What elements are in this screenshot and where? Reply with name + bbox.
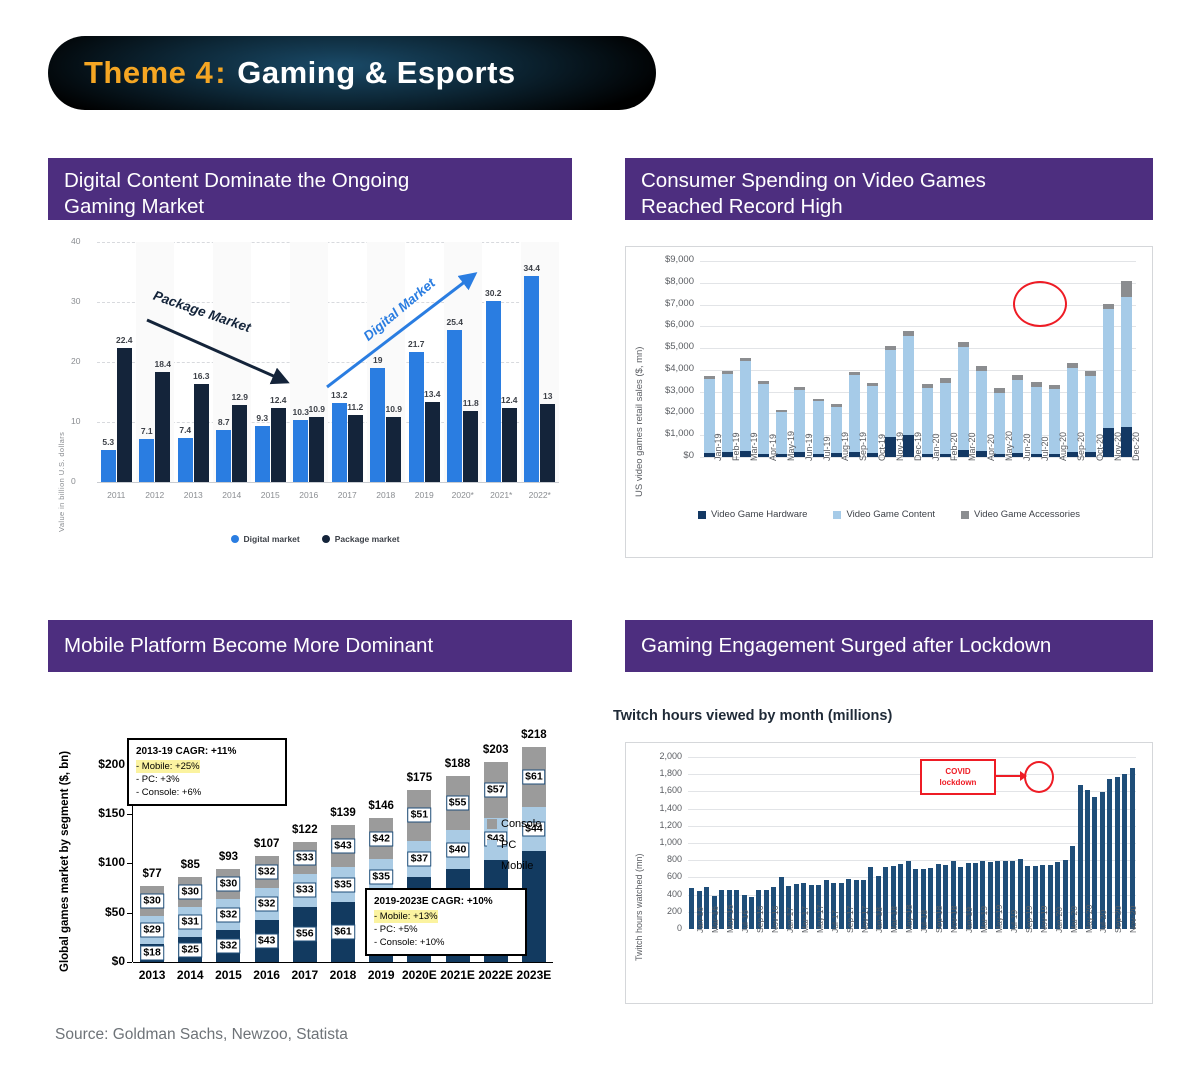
chart3-segment-label: $32 xyxy=(217,939,241,954)
chart4-x-tick: Mar-16 xyxy=(710,906,720,933)
legend-swatch-package-icon xyxy=(322,535,330,543)
chart4-gridline xyxy=(688,895,1136,896)
chart2-x-tick: Jul-20 xyxy=(1040,436,1050,461)
chart1-legend-label-package: Package market xyxy=(335,534,400,544)
chart1-bar: 18.4 xyxy=(155,372,170,482)
chart1-bar-group: 10.310.9 xyxy=(290,242,329,482)
chart-us-video-game-retail-sales: US video games retail sales ($, mn) $0$1… xyxy=(625,246,1153,558)
chart2-y-tick: $8,000 xyxy=(665,276,694,287)
chart4-bar xyxy=(883,867,888,929)
panel-header-consumer-spending: Consumer Spending on Video Games Reached… xyxy=(625,158,1153,220)
chart-twitch-hours-viewed: Twitch hours watched (mn) 02004006008001… xyxy=(625,742,1153,1004)
theme-colon: : xyxy=(213,55,228,90)
chart2-bar-segment xyxy=(885,350,896,437)
chart3-segment-label: $30 xyxy=(217,877,241,892)
chart2-y-tick: $4,000 xyxy=(665,363,694,374)
chart1-bar-group: 30.212.4 xyxy=(482,242,521,482)
chart3-segment-label: $33 xyxy=(293,883,317,898)
chart3-y-tick: $200 xyxy=(98,757,125,771)
chart4-gridline xyxy=(688,843,1136,844)
chart1-y-tick: 30 xyxy=(71,296,80,306)
chart2-x-tick: Dec-19 xyxy=(913,432,923,461)
chart4-y-tick: 1,800 xyxy=(659,768,682,778)
chart1-bar-value: 8.7 xyxy=(218,417,230,427)
chart3-segment-label: $57 xyxy=(484,782,508,797)
chart1-bar: 5.3 xyxy=(101,450,116,482)
chart4-x-tick: Mar-20 xyxy=(1069,906,1079,933)
chart3-segment-label: $43 xyxy=(331,839,355,854)
chart4-bar xyxy=(1107,779,1112,930)
chart2-x-tick: Aug-19 xyxy=(840,432,850,461)
chart4-y-tick: 1,400 xyxy=(659,803,682,813)
chart3-legend-item-mobile: Mobile xyxy=(487,860,541,872)
chart1-bar: 16.3 xyxy=(194,384,209,482)
chart4-x-tick: Jul-18 xyxy=(919,910,929,933)
chart4-bar xyxy=(1122,774,1127,929)
chart1-bar-group: 8.712.9 xyxy=(213,242,252,482)
chart3-total-label: $107 xyxy=(254,838,280,850)
chart3-y-tick: $50 xyxy=(105,905,125,919)
panel-title-line1: Consumer Spending on Video Games xyxy=(641,168,1153,194)
chart4-y-tick: 1,000 xyxy=(659,837,682,847)
theme-subject-label: Gaming & Esports xyxy=(237,55,515,90)
panel-mobile-platform: Mobile Platform Become More Dominant xyxy=(48,620,572,672)
panel-title-line1: Gaming Engagement Surged after Lockdown xyxy=(641,633,1051,659)
chart1-bar: 30.2 xyxy=(486,301,501,482)
chart1-bar-value: 30.2 xyxy=(485,288,502,298)
chart1-bar-value: 34.4 xyxy=(523,263,540,273)
chart2-gridline xyxy=(700,326,1136,327)
chart2-highlight-circle-icon xyxy=(1013,281,1067,327)
chart3-x-axis xyxy=(133,962,553,963)
chart3-x-tick: 2018 xyxy=(324,968,362,982)
chart3-legend-item-pc: PC xyxy=(487,839,541,851)
chart4-x-tick: Jul-17 xyxy=(830,910,840,933)
chart1-bar-group: 13.211.2 xyxy=(328,242,367,482)
chart1-bar-value: 25.4 xyxy=(446,317,463,327)
chart4-annotation-arrow-icon xyxy=(996,775,1022,777)
chart2-y-tick: $5,000 xyxy=(665,341,694,352)
chart1-x-tick: 2018 xyxy=(367,490,406,500)
chart1-y-tick: 40 xyxy=(71,236,80,246)
chart4-x-tick: May-16 xyxy=(725,905,735,933)
chart3-total-label: $203 xyxy=(483,744,509,756)
chart4-bar xyxy=(689,888,694,929)
legend-swatch-hardware-icon xyxy=(698,511,706,519)
chart1-legend-label-digital: Digital market xyxy=(244,534,300,544)
chart2-x-tick: Mar-20 xyxy=(967,432,977,461)
chart1-x-tick: 2013 xyxy=(174,490,213,500)
chart3-segment-label: $51 xyxy=(408,808,432,823)
chart3-cagr-note-heading: 2019-2023E CAGR: +10% xyxy=(374,895,518,908)
chart1-bar-value: 16.3 xyxy=(193,371,210,381)
chart4-y-tick: 400 xyxy=(667,889,682,899)
chart3-segment-label: $42 xyxy=(369,831,393,846)
chart4-annotation-line2: lockdown xyxy=(940,777,977,788)
chart4-gridline xyxy=(688,860,1136,861)
chart2-y-tick: $2,000 xyxy=(665,406,694,417)
chart1-bar-value: 11.8 xyxy=(463,398,479,408)
chart1-bar-group: 34.413 xyxy=(521,242,560,482)
chart3-cagr-note-line: - PC: +5% xyxy=(374,923,518,936)
chart2-y-tick: $7,000 xyxy=(665,298,694,309)
chart1-bar-value: 12.4 xyxy=(270,395,287,405)
chart4-bar xyxy=(1100,792,1105,929)
chart1-bar-value: 7.4 xyxy=(179,425,191,435)
chart4-x-tick: Sep-19 xyxy=(1024,906,1034,933)
chart1-bar: 12.4 xyxy=(502,408,517,482)
chart1-bar-value: 12.9 xyxy=(231,392,248,402)
chart2-y-tick: $0 xyxy=(683,450,694,461)
chart3-segment-label: $56 xyxy=(293,927,317,942)
panel-title-line2: Gaming Market xyxy=(64,194,572,220)
chart3-x-tick: 2015 xyxy=(209,968,247,982)
chart2-y-tick: $6,000 xyxy=(665,319,694,330)
chart3-cagr-note-line: - Mobile: +25% xyxy=(136,760,278,773)
chart4-x-tick: Sep-20 xyxy=(1113,906,1123,933)
chart4-x-tick: Nov-19 xyxy=(1039,906,1049,933)
chart2-x-tick: Jan-20 xyxy=(931,433,941,461)
chart3-segment-label: $43 xyxy=(255,933,279,948)
chart4-x-tick: Nov-18 xyxy=(949,906,959,933)
chart1-bar: 25.4 xyxy=(447,330,462,482)
chart1-x-tick: 2020* xyxy=(444,490,483,500)
chart4-x-tick: Mar-19 xyxy=(979,906,989,933)
chart3-segment-label: $61 xyxy=(331,924,355,939)
chart3-x-tick: 2016 xyxy=(248,968,286,982)
panel-header-gaming-engagement: Gaming Engagement Surged after Lockdown xyxy=(625,620,1153,672)
chart1-bar-value: 7.1 xyxy=(141,426,153,436)
chart1-x-tick: 2011 xyxy=(97,490,136,500)
chart1-bar-group: 1910.9 xyxy=(367,242,406,482)
chart2-bar-segment xyxy=(903,336,914,435)
chart2-legend-item-accessories: Video Game Accessories xyxy=(961,509,1080,520)
theme-title-text: Theme 4: Gaming & Esports xyxy=(48,55,516,91)
chart3-total-label: $146 xyxy=(368,800,394,812)
chart1-x-tick: 2017 xyxy=(328,490,367,500)
panel-title-line1: Digital Content Dominate the Ongoing xyxy=(64,168,572,194)
chart3-legend: Console PC Mobile xyxy=(487,818,541,881)
chart2-x-tick: Mar-19 xyxy=(749,432,759,461)
chart1-bar: 7.1 xyxy=(139,439,154,482)
panel-header-digital-content: Digital Content Dominate the Ongoing Gam… xyxy=(48,158,572,220)
chart3-cagr-note: 2019-2023E CAGR: +10%- Mobile: +13%- PC:… xyxy=(365,888,527,956)
legend-swatch-mobile-icon xyxy=(487,861,497,871)
chart3-x-tick: 2022E xyxy=(477,968,515,982)
chart3-y-tick: $100 xyxy=(98,855,125,869)
chart3-total-label: $175 xyxy=(407,772,433,784)
legend-swatch-console-icon xyxy=(487,819,497,829)
chart1-bar-value: 5.3 xyxy=(102,437,114,447)
chart1-legend-item-package: Package market xyxy=(322,534,400,544)
chart2-x-tick: Dec-20 xyxy=(1131,432,1141,461)
chart2-x-tick: Nov-20 xyxy=(1113,432,1123,461)
chart2-y-tick: $1,000 xyxy=(665,428,694,439)
chart2-x-tick: Sep-20 xyxy=(1076,432,1086,461)
chart2-x-tick: Jul-19 xyxy=(822,436,832,461)
legend-swatch-digital-icon xyxy=(231,535,239,543)
legend-swatch-pc-icon xyxy=(487,840,497,850)
chart3-legend-label-pc: PC xyxy=(501,839,516,851)
chart4-x-tick: Nov-20 xyxy=(1128,906,1138,933)
chart4-x-tick: Mar-17 xyxy=(800,906,810,933)
chart4-x-tick: Jan-16 xyxy=(695,907,705,933)
chart2-x-tick: Aug-20 xyxy=(1058,432,1068,461)
chart2-x-tick: Nov-19 xyxy=(895,432,905,461)
chart1-bar: 9.3 xyxy=(255,426,270,482)
chart4-x-tick: Jan-18 xyxy=(874,907,884,933)
chart1-bar: 11.8 xyxy=(463,411,478,482)
chart3-segment-label: $32 xyxy=(217,907,241,922)
chart2-x-tick: Jun-20 xyxy=(1022,433,1032,461)
chart2-bar-column xyxy=(1121,281,1132,457)
chart4-gridline xyxy=(688,809,1136,810)
chart3-segment-label: $18 xyxy=(140,946,164,961)
panel-consumer-spending: Consumer Spending on Video Games Reached… xyxy=(625,158,1153,220)
chart1-bar: 10.3 xyxy=(293,420,308,482)
chart1-bar-value: 18.4 xyxy=(154,359,171,369)
chart2-legend: Video Game Hardware Video Game Content V… xyxy=(626,509,1152,520)
chart2-y-tick: $9,000 xyxy=(665,254,694,265)
chart2-gridline xyxy=(700,261,1136,262)
chart1-bar: 22.4 xyxy=(117,348,132,482)
chart1-x-tick: 2019 xyxy=(405,490,444,500)
chart2-plot-area: $0$1,000$2,000$3,000$4,000$5,000$6,000$7… xyxy=(700,261,1136,457)
chart3-segment-label: $32 xyxy=(255,896,279,911)
chart3-legend-label-mobile: Mobile xyxy=(501,860,533,872)
chart1-y-tick: 20 xyxy=(71,356,80,366)
chart3-total-label: $122 xyxy=(292,824,318,836)
chart3-segment-label: $40 xyxy=(446,842,470,857)
chart2-gridline xyxy=(700,305,1136,306)
chart1-bar: 13.2 xyxy=(332,403,347,482)
chart4-y-axis-label: Twitch hours watched (mn) xyxy=(634,853,644,961)
chart1-bar: 12.9 xyxy=(232,405,247,482)
chart4-gridline xyxy=(688,774,1136,775)
chart1-bar-group: 25.411.8 xyxy=(444,242,483,482)
chart3-total-label: $77 xyxy=(142,868,161,880)
chart1-y-axis-label: Value in billion U.S. dollars xyxy=(57,432,66,532)
chart3-cagr-note-line: - Mobile: +13% xyxy=(374,910,518,923)
chart2-legend-item-hardware: Video Game Hardware xyxy=(698,509,807,520)
chart-global-games-market: Global games market by segment ($, bn) $… xyxy=(55,700,575,1010)
chart1-x-tick: 2012 xyxy=(136,490,175,500)
chart1-bar: 7.4 xyxy=(178,438,193,482)
chart4-gridline xyxy=(688,757,1136,758)
theme-number-label: Theme 4 xyxy=(84,55,213,90)
chart1-x-tick: 2016 xyxy=(290,490,329,500)
chart2-x-tick: Feb-20 xyxy=(949,432,959,461)
chart4-x-tick: Sep-16 xyxy=(755,906,765,933)
chart4-x-tick: Jul-16 xyxy=(740,910,750,933)
chart3-cagr-note-line: - Console: +6% xyxy=(136,786,278,799)
chart1-bar-group: 7.118.4 xyxy=(136,242,175,482)
chart1-bar-value: 22.4 xyxy=(116,335,133,345)
chart4-x-tick: Sep-17 xyxy=(845,906,855,933)
chart4-gridline xyxy=(688,791,1136,792)
chart3-cagr-note-heading: 2013-19 CAGR: +11% xyxy=(136,745,278,758)
chart1-bar-value: 10.9 xyxy=(385,404,402,414)
chart1-legend: Digital market Package market xyxy=(55,534,575,544)
chart1-bar: 19 xyxy=(370,368,385,482)
chart3-x-tick: 2021E xyxy=(438,968,476,982)
chart3-segment-label: $25 xyxy=(179,942,203,957)
chart4-covid-annotation: COVID lockdown xyxy=(920,759,996,795)
chart1-bar-value: 10.9 xyxy=(308,404,325,414)
chart1-bar-group: 9.312.4 xyxy=(251,242,290,482)
chart1-bar-value: 11.2 xyxy=(347,402,363,412)
chart4-x-tick: Sep-18 xyxy=(934,906,944,933)
chart3-x-tick: 2019 xyxy=(362,968,400,982)
chart2-x-tick: May-20 xyxy=(1004,431,1014,461)
chart1-legend-item-digital: Digital market xyxy=(231,534,300,544)
chart3-y-tick: $0 xyxy=(112,954,125,968)
chart2-y-tick: $3,000 xyxy=(665,385,694,396)
chart2-x-tick: Apr-19 xyxy=(768,434,778,461)
chart3-x-tick: 2020E xyxy=(400,968,438,982)
chart2-x-tick: Jan-19 xyxy=(713,433,723,461)
chart4-y-tick: 2,000 xyxy=(659,751,682,761)
chart2-y-axis-label: US video games retail sales ($, mn) xyxy=(634,347,645,497)
chart1-bar-value: 21.7 xyxy=(408,339,425,349)
chart4-x-tick: Nov-17 xyxy=(860,906,870,933)
legend-swatch-content-icon xyxy=(833,511,841,519)
chart2-gridline xyxy=(700,283,1136,284)
chart3-y-tick: $150 xyxy=(98,806,125,820)
chart3-x-tick: 2017 xyxy=(286,968,324,982)
chart2-legend-label-content: Video Game Content xyxy=(846,509,935,520)
chart1-bar-value: 12.4 xyxy=(501,395,518,405)
chart4-bar xyxy=(898,864,903,929)
panel-header-mobile-platform: Mobile Platform Become More Dominant xyxy=(48,620,572,672)
chart3-segment-label: $32 xyxy=(255,865,279,880)
chart4-gridline xyxy=(688,826,1136,827)
chart1-bar-value: 19 xyxy=(373,355,382,365)
theme-title-banner: Theme 4: Gaming & Esports xyxy=(48,36,656,110)
chart4-gridline xyxy=(688,877,1136,878)
chart3-segment-label: $35 xyxy=(331,877,355,892)
chart3-segment-label: $37 xyxy=(408,851,432,866)
chart3-tick-mark xyxy=(127,962,132,963)
chart1-plot-area: 0102030405.322.47.118.47.416.38.712.99.3… xyxy=(97,242,559,482)
chart4-x-tick: Mar-18 xyxy=(889,906,899,933)
chart3-total-label: $188 xyxy=(445,758,471,770)
chart1-bar: 34.4 xyxy=(524,276,539,482)
chart1-bar: 10.9 xyxy=(386,417,401,482)
source-note: Source: Goldman Sachs, Newzoo, Statista xyxy=(55,1026,348,1044)
chart4-x-tick: Jul-19 xyxy=(1009,910,1019,933)
chart3-total-label: $85 xyxy=(181,859,200,871)
chart1-bar-value: 10.3 xyxy=(292,407,309,417)
panel-title-line1: Mobile Platform Become More Dominant xyxy=(64,633,433,659)
chart4-y-tick: 1,200 xyxy=(659,820,682,830)
chart3-cagr-note-line: - PC: +3% xyxy=(136,773,278,786)
chart1-bar-value: 13 xyxy=(543,391,552,401)
chart3-cagr-note: 2013-19 CAGR: +11%- Mobile: +25%- PC: +3… xyxy=(127,738,287,806)
chart3-x-tick: 2023E xyxy=(515,968,553,982)
chart1-bar-value: 9.3 xyxy=(256,413,268,423)
chart2-x-tick: Oct-19 xyxy=(877,434,887,461)
chart3-cagr-note-line: - Console: +10% xyxy=(374,936,518,949)
chart1-x-tick: 2014 xyxy=(213,490,252,500)
chart1-bar-value: 13.4 xyxy=(424,389,441,399)
chart2-bar-segment xyxy=(1103,309,1114,428)
chart3-legend-item-console: Console xyxy=(487,818,541,830)
chart1-bar-value: 13.2 xyxy=(331,390,348,400)
chart2-x-tick: Jun-19 xyxy=(804,433,814,461)
chart2-bar-segment xyxy=(1121,297,1132,427)
chart4-x-tick: Jan-19 xyxy=(964,907,974,933)
chart2-legend-label-accessories: Video Game Accessories xyxy=(974,509,1080,520)
chart2-x-tick: Apr-20 xyxy=(986,434,996,461)
chart2-x-tick: Oct-20 xyxy=(1095,434,1105,461)
chart4-y-tick: 800 xyxy=(667,854,682,864)
chart2-bar-segment xyxy=(1121,281,1132,297)
chart3-y-axis-label: Global games market by segment ($, bn) xyxy=(59,751,71,972)
chart4-highlight-circle-icon xyxy=(1024,761,1054,793)
chart3-legend-label-console: Console xyxy=(501,818,541,830)
chart4-x-tick: Jan-17 xyxy=(785,907,795,933)
chart3-segment-label: $30 xyxy=(140,893,164,908)
chart1-bar: 10.9 xyxy=(309,417,324,482)
chart3-segment-label: $35 xyxy=(369,869,393,884)
chart3-segment-label: $55 xyxy=(446,795,470,810)
chart1-bar: 11.2 xyxy=(348,415,363,482)
chart4-caption: Twitch hours viewed by month (millions) xyxy=(613,708,892,724)
panel-gaming-engagement: Gaming Engagement Surged after Lockdown xyxy=(625,620,1153,672)
chart2-legend-label-hardware: Video Game Hardware xyxy=(711,509,807,520)
chart3-segment-label: $61 xyxy=(522,770,546,785)
chart4-annotation-line1: COVID xyxy=(945,766,970,777)
chart1-bar: 13 xyxy=(540,404,555,482)
chart1-bar: 13.4 xyxy=(425,402,440,482)
chart-digital-vs-package: Value in billion U.S. dollars 0102030405… xyxy=(55,232,575,562)
chart1-y-tick: 10 xyxy=(71,416,80,426)
chart3-total-label: $218 xyxy=(521,729,547,741)
chart3-total-label: $93 xyxy=(219,851,238,863)
chart4-x-tick: May-20 xyxy=(1084,905,1094,933)
chart1-x-axis xyxy=(97,482,559,483)
legend-swatch-accessories-icon xyxy=(961,511,969,519)
chart2-gridline xyxy=(700,348,1136,349)
chart2-x-tick: Feb-19 xyxy=(731,432,741,461)
chart1-y-tick: 0 xyxy=(71,476,76,486)
chart3-total-label: $139 xyxy=(330,807,356,819)
chart4-y-tick: 0 xyxy=(677,923,682,933)
chart1-bar: 12.4 xyxy=(271,408,286,482)
chart4-x-tick: Jan-20 xyxy=(1054,907,1064,933)
chart4-x-tick: May-17 xyxy=(815,905,825,933)
chart1-bar-group: 5.322.4 xyxy=(97,242,136,482)
chart1-bar: 21.7 xyxy=(409,352,424,482)
chart4-plot-area: 02004006008001,0001,2001,4001,6001,8002,… xyxy=(688,757,1136,929)
chart3-segment-label: $29 xyxy=(140,922,164,937)
panel-title-line2: Reached Record High xyxy=(641,194,1153,220)
chart4-y-tick: 200 xyxy=(667,906,682,916)
chart4-x-tick: Nov-16 xyxy=(770,906,780,933)
chart4-x-tick: Jul-20 xyxy=(1098,910,1108,933)
panel-digital-content: Digital Content Dominate the Ongoing Gam… xyxy=(48,158,572,220)
chart2-legend-item-content: Video Game Content xyxy=(833,509,935,520)
chart4-y-tick: 600 xyxy=(667,871,682,881)
chart3-segment-label: $31 xyxy=(179,915,203,930)
chart2-x-tick: May-19 xyxy=(786,431,796,461)
chart3-segment-label: $33 xyxy=(293,850,317,865)
chart4-x-tick: May-19 xyxy=(994,905,1004,933)
chart1-x-tick: 2015 xyxy=(251,490,290,500)
chart4-x-tick: May-18 xyxy=(904,905,914,933)
chart4-y-tick: 1,600 xyxy=(659,785,682,795)
